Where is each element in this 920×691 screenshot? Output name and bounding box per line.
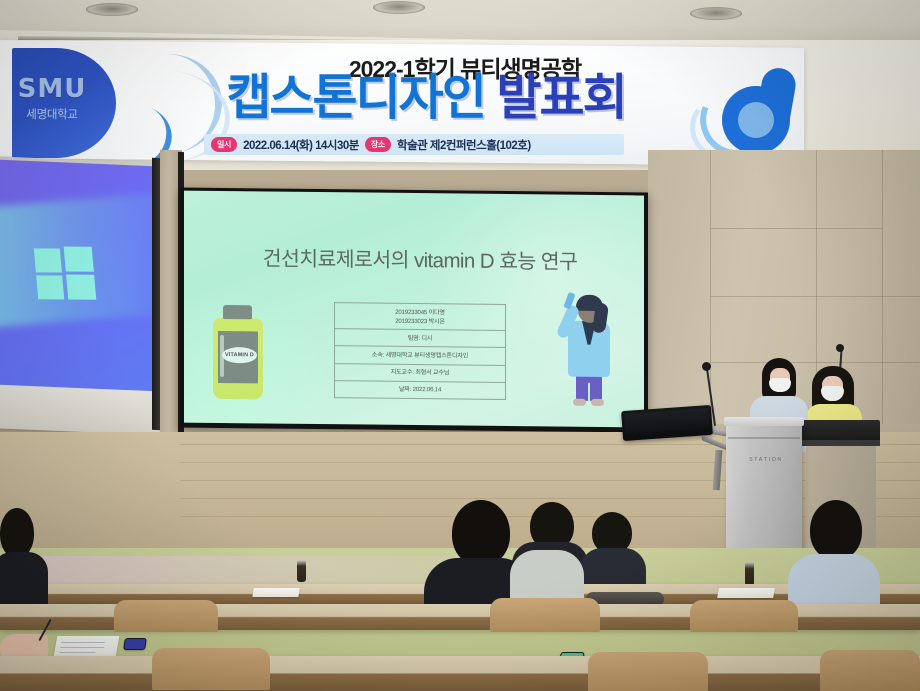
lecture-chair bbox=[820, 650, 920, 691]
date-label-pill: 일시 bbox=[211, 137, 237, 152]
table-row-advisor: 지도교수: 최형서 교수님 bbox=[335, 363, 506, 382]
secondary-lectern-lip bbox=[802, 440, 880, 446]
slide-title-en: vitamin D bbox=[414, 249, 494, 273]
audience-person bbox=[788, 500, 880, 610]
lectern-top bbox=[724, 417, 804, 426]
lecture-desk-front bbox=[0, 656, 920, 691]
event-banner: SMU 세명대학교 2022-1학기 뷰티생명공학 캡스톤디자인 발표회 일시 … bbox=[0, 40, 804, 166]
secondary-screen-bottom bbox=[0, 384, 162, 433]
scientist-illustration bbox=[558, 291, 622, 412]
lectern-seam bbox=[728, 437, 800, 439]
smartphone[interactable] bbox=[123, 638, 147, 650]
audience-person bbox=[0, 508, 44, 604]
paper-sheet bbox=[717, 588, 775, 598]
lecture-chair bbox=[152, 648, 270, 690]
table-row-date: 날짜: 2022.06.14 bbox=[335, 380, 506, 399]
university-name-korean: 세명대학교 bbox=[10, 106, 94, 122]
main-projection-screen-frame: 건선치료제로서의 vitamin D 효능 연구 2019233045 이다영 … bbox=[180, 188, 648, 433]
vitamin-bottle-label-text: VITAMIN D bbox=[225, 352, 254, 358]
water-bottle bbox=[297, 560, 306, 582]
lecture-chair bbox=[114, 600, 218, 632]
paper-sheet bbox=[252, 588, 299, 597]
place-label-pill: 장소 bbox=[365, 137, 391, 152]
lecture-chair bbox=[490, 598, 600, 632]
ceiling-vent-icon bbox=[373, 1, 425, 14]
presentation-slide: 건선치료제로서의 vitamin D 효능 연구 2019233045 이다영 … bbox=[184, 191, 644, 428]
table-row-members: 2019233045 이다영 2019233023 박시은 bbox=[335, 303, 506, 331]
banner-title-part2: 발표회 bbox=[485, 71, 626, 125]
ceiling-vent-icon bbox=[86, 3, 138, 16]
microphone-icon bbox=[702, 362, 711, 371]
banner-title-part1: 캡스톤디자인 bbox=[226, 71, 484, 125]
windows-logo-icon bbox=[34, 246, 97, 300]
secondary-lectern-top bbox=[802, 420, 880, 442]
slide-title-kr2: 효능 연구 bbox=[494, 250, 577, 274]
lecture-chair bbox=[588, 652, 708, 691]
slide-title: 건선치료제로서의 vitamin D 효능 연구 bbox=[210, 241, 630, 275]
lecture-chair bbox=[690, 600, 798, 632]
table-row-team: 팀명: 디시 bbox=[335, 329, 506, 348]
event-date-text: 2022.06.14(화) 14시30분 bbox=[243, 137, 359, 153]
table-row-affiliation: 소속: 세명대학교 뷰티생명캡스톤디자인 bbox=[335, 346, 506, 365]
slide-info-table: 2019233045 이다영 2019233023 박시은 팀명: 디시 소속:… bbox=[334, 302, 506, 400]
coffee-bottle bbox=[745, 562, 754, 586]
event-place-text: 학술관 제2컨퍼런스홀(102호) bbox=[397, 137, 531, 153]
banner-title: 캡스톤디자인 발표회 bbox=[126, 74, 726, 123]
lectern-brand-label: STATION bbox=[740, 457, 792, 463]
secondary-projection-windows-desktop bbox=[0, 160, 159, 397]
audience-person bbox=[580, 512, 646, 592]
articulated-arm-monitor bbox=[621, 405, 713, 441]
microphone-icon bbox=[836, 344, 844, 352]
lecture-hall-photo: SMU 세명대학교 2022-1학기 뷰티생명공학 캡스톤디자인 발표회 일시 … bbox=[0, 0, 920, 691]
smu-logo-text: SMU bbox=[14, 76, 90, 102]
slide-title-kr1: 건선치료제로서의 bbox=[263, 247, 414, 272]
ceiling-vent-icon bbox=[690, 7, 742, 20]
vitamin-bottle-illustration: VITAMIN D bbox=[212, 305, 264, 400]
banner-info-bar: 일시 2022.06.14(화) 14시30분 장소 학술관 제2컨퍼런스홀(1… bbox=[204, 134, 624, 155]
